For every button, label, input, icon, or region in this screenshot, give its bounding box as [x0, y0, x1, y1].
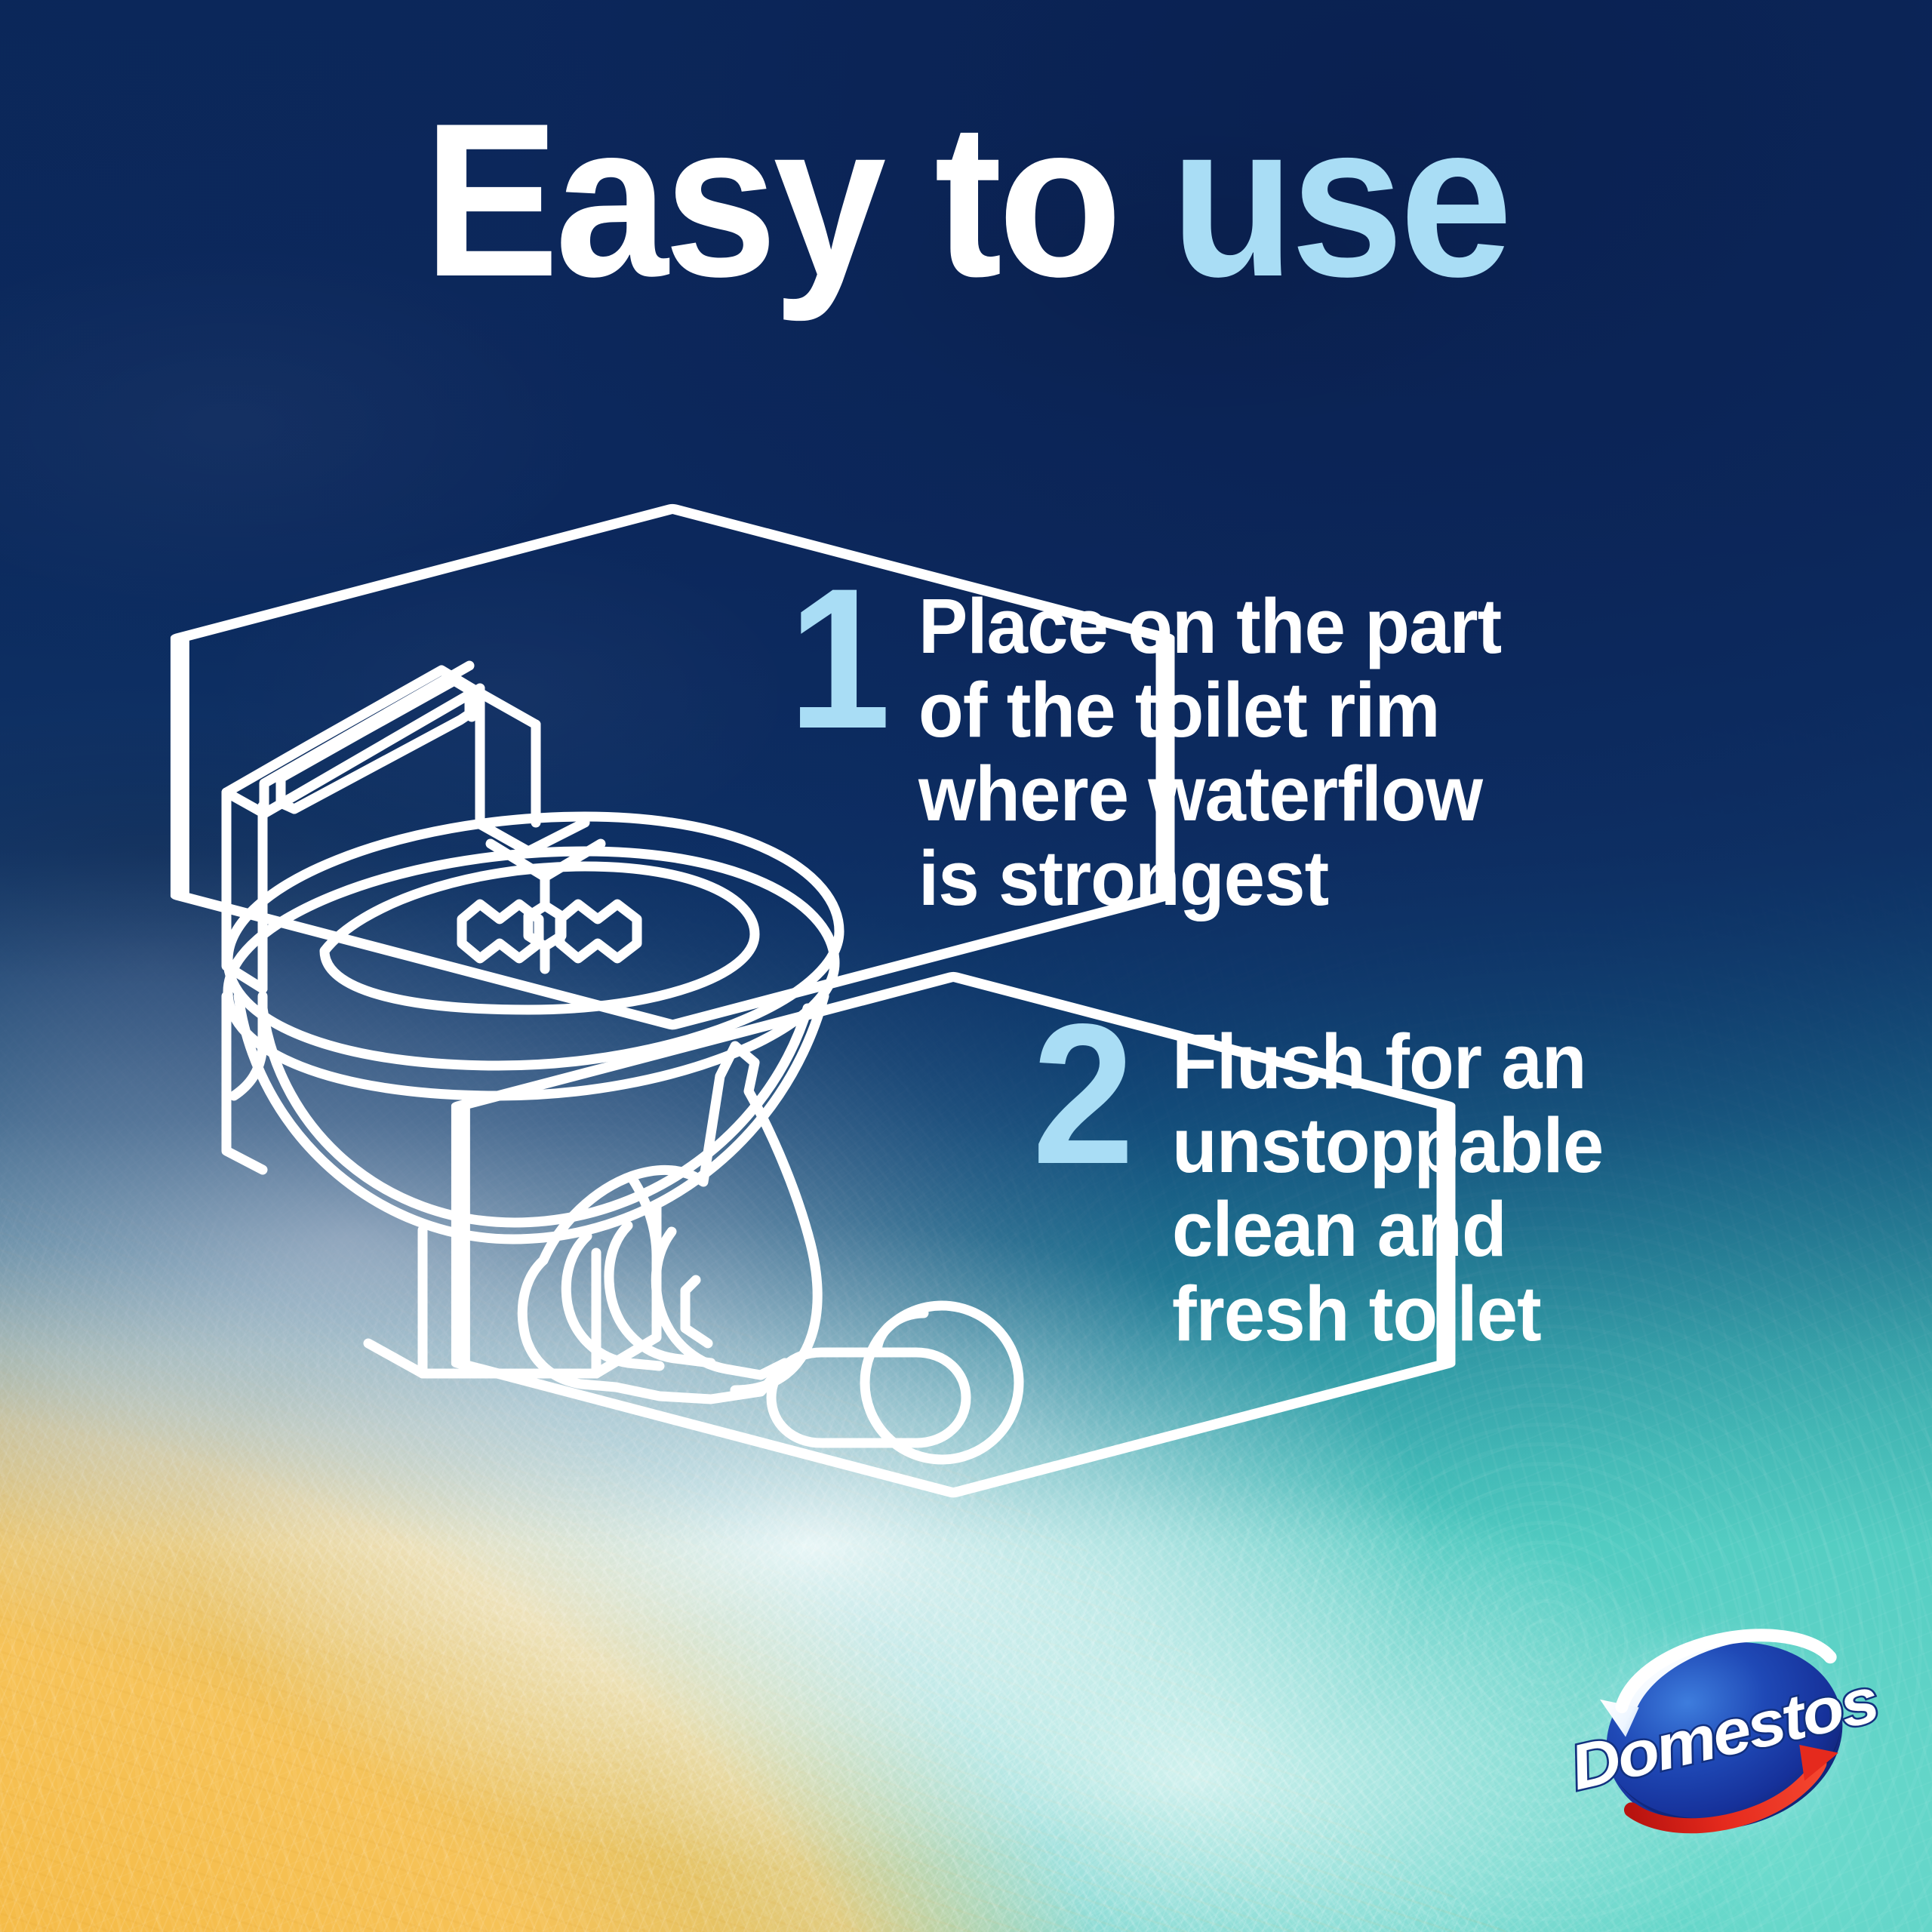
step-text-2: Flush for an unstoppable clean and fresh… [1172, 1009, 1603, 1355]
domestos-logo: Domestos [1558, 1600, 1890, 1872]
step-1-line-3: where waterflow [918, 752, 1580, 835]
headline-white-text: Easy to [423, 78, 1171, 322]
step-text-1: Place on the part of the toilet rim wher… [918, 574, 1580, 920]
headline-accent-text: use [1171, 78, 1509, 322]
step-2-line-2: unstoppable [1172, 1103, 1603, 1187]
step-1-line-1: Place on the part [918, 584, 1580, 668]
step-number-1: 1 [783, 574, 897, 746]
page-title: Easy to use [68, 91, 1865, 309]
promo-canvas: Easy to use [0, 0, 1932, 1932]
step-1-line-2: of the toilet rim [918, 668, 1580, 752]
step-2-line-4: fresh toilet [1172, 1272, 1603, 1355]
step-1-line-4: is strongest [918, 836, 1580, 920]
step-2-line-3: clean and [1172, 1187, 1603, 1271]
step-item-1: 1 Place on the part of the toilet rim wh… [777, 574, 1615, 920]
step-number-2: 2 [1023, 1009, 1144, 1181]
step-item-2: 2 Flush for an unstoppable clean and fre… [777, 1009, 1615, 1355]
step-2-line-1: Flush for an [1172, 1020, 1603, 1103]
instruction-steps: 1 Place on the part of the toilet rim wh… [777, 574, 1615, 1355]
